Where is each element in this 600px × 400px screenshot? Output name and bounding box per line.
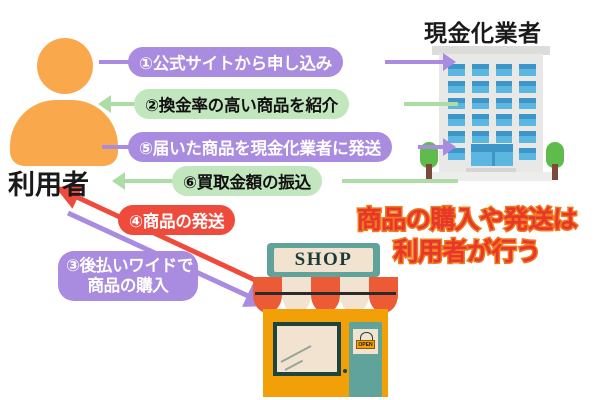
infographic-canvas: 利用者 現金化業者 ①公式サイトから申し込み ②換金率の高い商品を紹介 ⑤ <box>0 0 600 400</box>
open-sign-text: OPEN <box>358 342 372 348</box>
shop-awning-bar <box>255 292 396 295</box>
step-3-label[interactable]: ③後払いワイドで 商品の購入 <box>58 251 198 301</box>
shop-signboard: SHOP <box>267 243 380 277</box>
open-sign: OPEN <box>353 329 378 354</box>
shop-signboard-inner: SHOP <box>274 248 373 272</box>
step-2-label[interactable]: ②換金率の高い商品を紹介 <box>134 89 349 119</box>
shop-door: OPEN <box>349 322 382 397</box>
company-label: 現金化業者 <box>424 14 542 48</box>
user-label: 利用者 <box>8 163 89 202</box>
step-6-label[interactable]: ⑥買取金額の振込 <box>172 166 322 196</box>
step-1-label[interactable]: ①公式サイトから申し込み <box>128 47 343 77</box>
building-entrance <box>471 144 513 166</box>
shop-awning <box>253 277 398 313</box>
shop-door-knob <box>343 369 347 373</box>
step-5-arrowhead <box>443 138 456 156</box>
step-4-label[interactable]: ④商品の発送 <box>118 205 235 235</box>
shop-icon: SHOP OPEN <box>253 243 398 400</box>
tree-right-icon <box>546 142 564 182</box>
step-1-line-right <box>385 60 448 64</box>
step-6-line-right <box>342 179 458 183</box>
step-6-line-left <box>124 179 176 183</box>
open-sign-plate: OPEN <box>356 340 375 349</box>
step-3-label-line1: ③後払いワイドで <box>66 256 190 276</box>
emphasis-line-1: 商品の購入や発送は <box>336 204 598 236</box>
shop-sign-text: SHOP <box>295 249 353 271</box>
step-2-line-right <box>404 102 458 106</box>
step-3-label-line2: 商品の購入 <box>66 276 190 296</box>
step-1-arrowhead <box>443 53 456 71</box>
shop-facade: OPEN <box>263 309 388 397</box>
step-5-label[interactable]: ⑤届いた商品を現金化業者に発送 <box>128 132 392 162</box>
avatar-head-icon <box>37 38 93 94</box>
